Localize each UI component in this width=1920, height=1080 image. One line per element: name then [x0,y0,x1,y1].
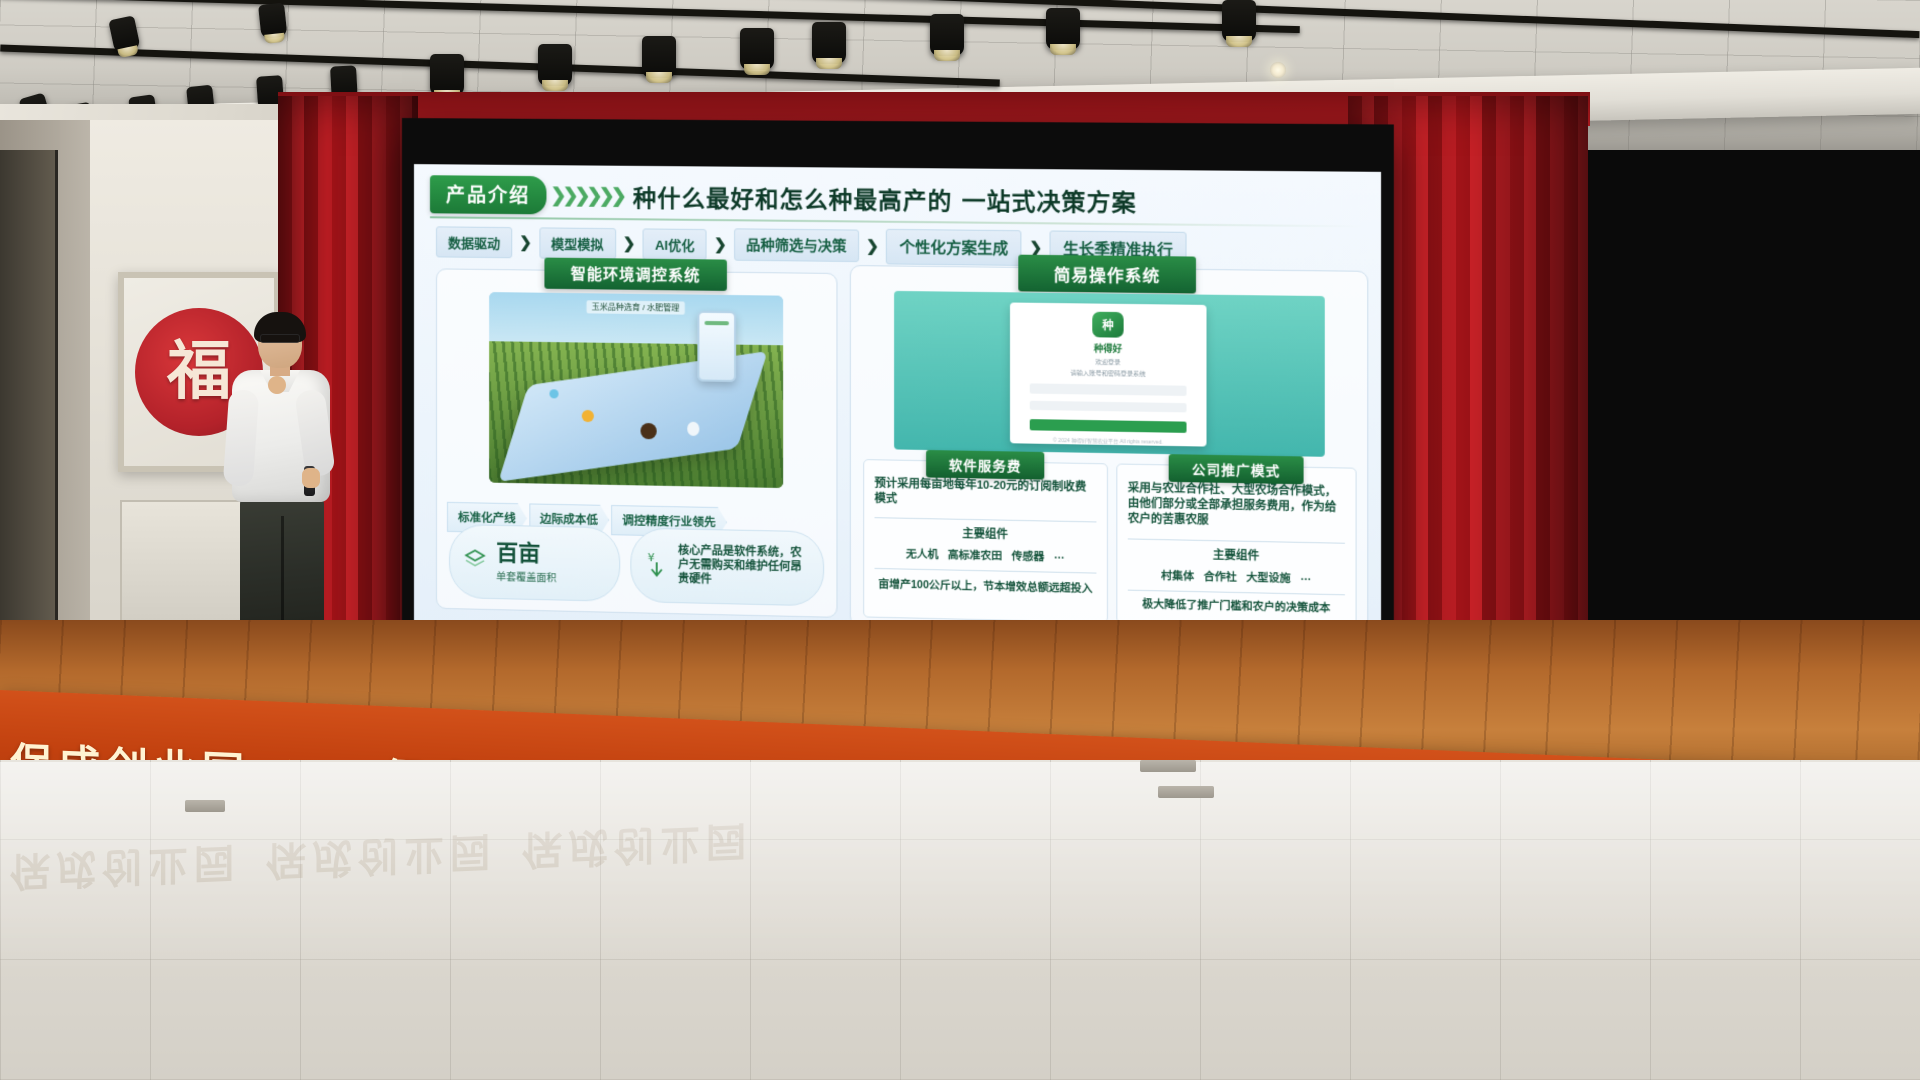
system-illustration: 玉米品种选育 / 水肥管理 [489,292,783,488]
app-logo-icon: 种 [1092,312,1123,338]
presentation-slide: 产品介绍 ❯❯❯❯❯❯ 种什么最好和怎么种最高产的 一站式决策方案 数据驱动 ❯… [414,164,1381,665]
presenter [206,316,356,666]
card2-items: 村集体 合作社 大型设施 … [1124,567,1350,587]
illustration-marker-dot [582,410,594,422]
flow-step-3[interactable]: AI优化 [643,228,707,260]
app-login-screenshot: 种 种得好 欢迎登录 请输入账号和密码登录系统 © 2024 种得好智慧农业平台… [894,291,1325,457]
card2-divider-top [1128,538,1345,543]
software-core-box: ¥ 核心产品是软件系统，农户无需购买和维护任何昂贵硬件 [630,528,824,607]
track-spotlight [642,36,676,78]
illustration-marker-dot [687,422,699,436]
card1-items: 无人机 高标准农田 传感器 … [870,545,1100,565]
card2-item-2: 合作社 [1204,569,1237,585]
conference-room-scene: 福 产品介绍 ❯❯❯❯❯❯ 种什么最好和怎么种最高产的 一站式决策方案 数 [0,0,1920,1080]
flow-step-5[interactable]: 个性化方案生成 [886,228,1022,265]
illustration-caption: 玉米品种选育 / 水肥管理 [586,300,684,314]
app-password-field[interactable] [1030,400,1187,412]
illustration-marker-dot [549,389,558,398]
presenter-hand-raised [268,376,286,394]
chevron-run-icon: ❯❯❯❯❯❯ [555,186,627,206]
app-username-field[interactable] [1030,384,1187,396]
panel-simple-operation-system: 简易操作系统 种 种得好 欢迎登录 请输入账号和密码登录系统 © 2024 种得… [850,265,1368,638]
reflection-word: 保成创业园 [522,815,752,883]
illustration-phone-icon [697,311,736,382]
card1-divider-top [875,517,1097,522]
card1-section-label: 主要组件 [864,523,1107,544]
panel-smart-environment-control: 智能环境调控系统 玉米品种选育 / 水肥管理 标准化产线 [436,268,837,617]
card2-footer: 极大降低了推广门槛和农户的决策成本 [1126,598,1347,617]
glasses-icon [260,334,300,343]
panel-left-header: 智能环境调控系统 [544,258,727,291]
card1-item-1: 无人机 [906,546,939,562]
reflection-word: 保成创业园 [266,825,496,893]
card2-item-4: … [1300,571,1311,587]
software-core-text: 核心产品是软件系统，农户无需购买和维护任何昂贵硬件 [678,545,811,590]
card-company-promotion-model: 公司推广模式 采用与农业合作社、大型农场合作模式，由他们部分或全部承担服务费用，… [1116,463,1356,628]
track-spotlight [258,3,287,40]
screen-active-area: 产品介绍 ❯❯❯❯❯❯ 种什么最好和怎么种最高产的 一站式决策方案 数据驱动 ❯… [414,164,1381,665]
card2-divider-bottom [1128,590,1345,596]
app-name: 种得好 [1094,342,1122,356]
card2-item-3: 大型设施 [1246,570,1290,586]
card1-item-2: 高标准农田 [948,547,1002,563]
flow-arrow-icon: ❯ [619,234,640,252]
coverage-area-value: 百亩 [496,539,540,566]
illustration-marker-dot [640,423,656,439]
flow-arrow-icon: ❯ [710,235,731,253]
area-coverage-icon [462,546,488,578]
flow-step-2[interactable]: 模型模拟 [539,227,616,259]
app-login-button[interactable] [1030,419,1187,433]
card2-paragraph: 采用与农业合作社、大型农场合作模式，由他们部分或全部承担服务费用，作为给农户的苦… [1128,481,1345,531]
svg-text:¥: ¥ [648,551,655,564]
reflection-word: 保成创业园 [10,836,240,904]
slide-title-row: 产品介绍 ❯❯❯❯❯❯ 种什么最好和怎么种最高产的 一站式决策方案 [430,174,1368,223]
yuan-savings-icon: ¥ [644,547,670,583]
floor-vent-grate [185,800,225,812]
floor-vent-grate [1140,760,1196,772]
flow-step-4[interactable]: 品种筛选与决策 [734,228,859,262]
app-login-tip: 请输入账号和密码登录系统 [1070,368,1145,378]
app-login-subtitle: 欢迎登录 [1095,357,1120,367]
card-software-service-fee: 软件服务费 预计采用每亩地每年10-20元的订阅制收费模式 主要组件 无人机 高… [863,459,1108,623]
presenter-leg-split [281,516,284,624]
card1-item-4: … [1054,549,1065,565]
card1-item-3: 传感器 [1012,548,1045,564]
coverage-area-label: 单套覆盖面积 [496,567,556,583]
coverage-area-box: 百亩 单套覆盖面积 [449,524,620,602]
presenter-hand-lower [302,468,320,488]
card1-paragraph: 预计采用每亩地每年10-20元的订阅制收费模式 [875,477,1097,511]
flow-step-1[interactable]: 数据驱动 [436,226,512,258]
slide-section-tab: 产品介绍 [430,175,546,214]
flow-arrow-icon: ❯ [862,237,883,256]
card2-item-1: 村集体 [1161,568,1194,584]
floor-vent-grate [1158,786,1214,798]
app-login-card: 种 种得好 欢迎登录 请输入账号和密码登录系统 © 2024 种得好智慧农业平台… [1010,303,1207,447]
track-spotlight [812,22,846,64]
card1-header: 软件服务费 [926,450,1044,480]
ceiling-downlight [1270,62,1286,78]
track-spotlight [930,14,964,56]
app-footer-text: © 2024 种得好智慧农业平台 All rights reserved. [1053,437,1163,446]
track-spotlight [430,54,464,96]
track-spotlight [740,28,774,70]
slide-title: 种什么最好和怎么种最高产的 一站式决策方案 [633,179,1137,218]
coverage-area-text: 百亩 单套覆盖面积 [496,541,556,583]
track-spotlight [1222,0,1256,42]
track-spotlight [1046,8,1080,50]
track-spotlight [538,44,572,86]
card1-footer: 亩增产100公斤以上，节本增效总额远超投入 [872,578,1098,597]
led-display-screen: 产品介绍 ❯❯❯❯❯❯ 种什么最好和怎么种最高产的 一站式决策方案 数据驱动 ❯… [402,118,1394,703]
panel-right-header: 简易操作系统 [1018,255,1196,294]
flow-arrow-icon: ❯ [515,233,536,251]
side-door [0,150,58,620]
card2-section-label: 主要组件 [1117,544,1355,565]
card2-header: 公司推广模式 [1169,454,1304,484]
card1-divider-bottom [875,568,1097,574]
